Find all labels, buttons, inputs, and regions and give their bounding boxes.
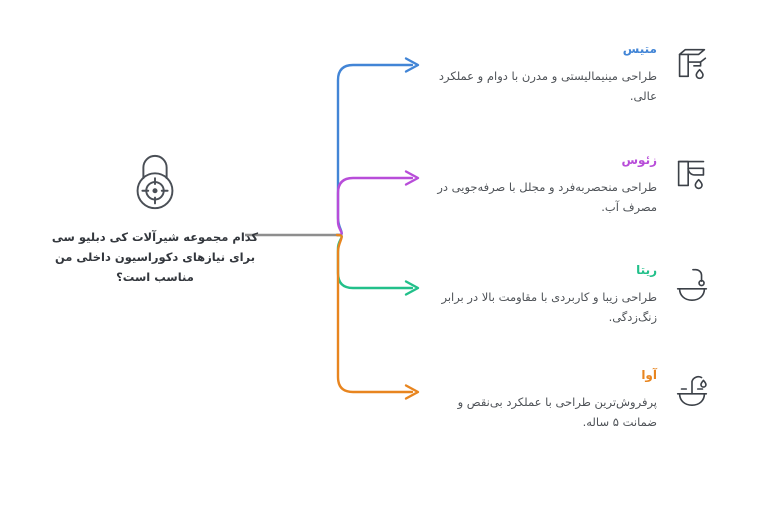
branch-description-0: طراحی مینیمالیستی و مدرن با دوام و عملکر…	[425, 66, 657, 107]
connector-branch-2	[337, 235, 412, 288]
branch-text-2: ریتا طراحی زیبا و کاربردی با مقاومت بالا…	[425, 263, 657, 328]
branch-item-2[interactable]: ریتا طراحی زیبا و کاربردی با مقاومت بالا…	[425, 263, 713, 328]
washbasin-dripping-faucet-icon	[671, 368, 713, 410]
branch-title-2: ریتا	[425, 263, 657, 278]
root-node[interactable]: کدام مجموعه شیرآلات کی دبلیو سی برای نیا…	[40, 152, 270, 287]
wall-mount-faucet-icon	[671, 153, 713, 195]
branch-title-1: زئوس	[425, 153, 657, 168]
branch-title-3: آوا	[425, 368, 657, 383]
branch-description-1: طراحی منحصربه‌فرد و مجلل با صرفه‌جویی در…	[425, 177, 657, 218]
branch-title-0: متیس	[425, 42, 657, 57]
branch-text-3: آوا پرفروش‌ترین طراحی با عملکرد بی‌نقص و…	[425, 368, 657, 433]
branch-description-3: پرفروش‌ترین طراحی با عملکرد بی‌نقص و ضما…	[425, 392, 657, 433]
padlock-target-icon	[124, 152, 186, 214]
branch-description-2: طراحی زیبا و کاربردی با مقاومت بالا در ب…	[425, 287, 657, 328]
branch-item-3[interactable]: آوا پرفروش‌ترین طراحی با عملکرد بی‌نقص و…	[425, 368, 713, 433]
connector-branch-0	[337, 65, 412, 235]
basin-mixer-tap-icon	[671, 42, 713, 84]
root-question: کدام مجموعه شیرآلات کی دبلیو سی برای نیا…	[40, 228, 270, 287]
branch-text-1: زئوس طراحی منحصربه‌فرد و مجلل با صرفه‌جو…	[425, 153, 657, 218]
branch-item-0[interactable]: متیس طراحی مینیمالیستی و مدرن با دوام و …	[425, 42, 713, 107]
branch-item-1[interactable]: زئوس طراحی منحصربه‌فرد و مجلل با صرفه‌جو…	[425, 153, 713, 218]
branch-text-0: متیس طراحی مینیمالیستی و مدرن با دوام و …	[425, 42, 657, 107]
connector-branch-1	[337, 178, 412, 235]
mindmap-canvas: کدام مجموعه شیرآلات کی دبلیو سی برای نیا…	[0, 0, 770, 512]
washbasin-faucet-icon	[671, 263, 713, 305]
connector-branch-3	[337, 235, 412, 392]
